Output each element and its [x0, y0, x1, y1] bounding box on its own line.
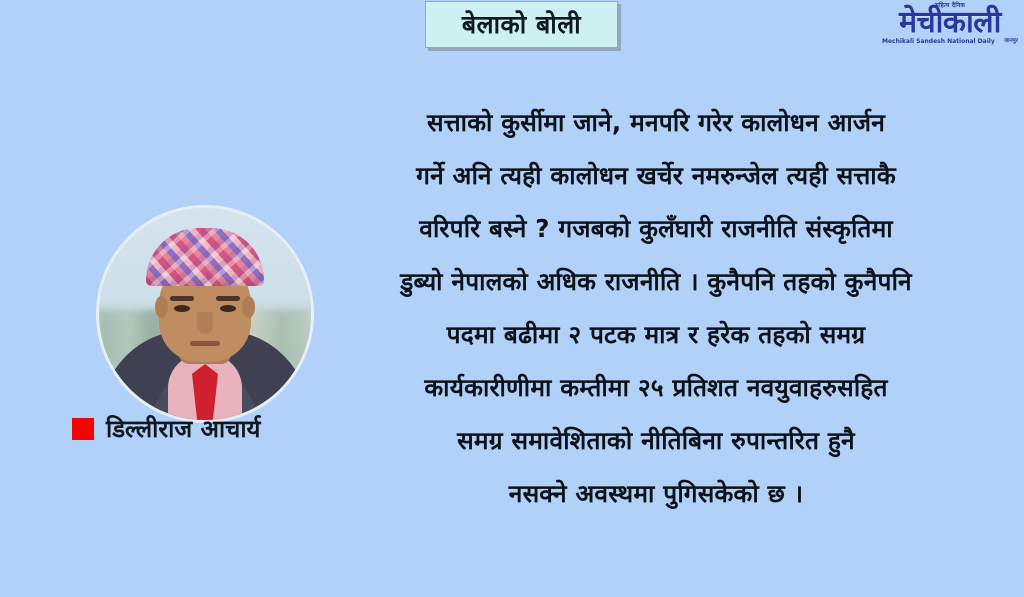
quote-line: कार्यकारीणीमा कम्तीमा २५ प्रतिशत नवयुवाह… — [300, 361, 1012, 414]
eye-left — [174, 305, 190, 312]
masthead-tagline-text: जानपुर — [1004, 39, 1018, 45]
avatar — [96, 205, 314, 423]
avatar-wrapper — [96, 205, 314, 423]
header-bar: बेलाको बोली सहित्य दैनिक मेचीकाली Mechik… — [0, 0, 1024, 58]
quote-line: सत्ताको कुर्सीमा जाने, मनपरि गरेर कालोधन… — [300, 96, 1012, 149]
quote-line: वरिपरि बस्ने ? गजबको कुलँघारी राजनीति सं… — [300, 202, 1012, 255]
quote-line: गर्ने अनि त्यही कालोधन खर्चेर नमरुन्जेल … — [300, 149, 1012, 202]
eye-right — [220, 305, 236, 312]
ear-left — [155, 296, 168, 318]
column-title-plaque: बेलाको बोली — [425, 1, 618, 48]
masthead-subtitle-text: Mechikali Sandesh National Daily — [882, 39, 995, 45]
ear-right — [242, 296, 255, 318]
author-block: डिल्लीराज आचार्य — [58, 205, 338, 423]
eyebrow-left — [170, 296, 194, 301]
newspaper-masthead: सहित्य दैनिक मेचीकाली Mechikali Sandesh … — [880, 2, 1020, 56]
quote-body: सत्ताको कुर्सीमा जाने, मनपरि गरेर कालोधन… — [300, 96, 1012, 520]
masthead-name-text: मेचीकाली — [899, 8, 1001, 38]
quote-line: डुब्यो नेपालको अधिक राजनीति । कुनैपनि तह… — [300, 255, 1012, 308]
nose-shape — [197, 312, 213, 334]
eyebrow-right — [216, 296, 240, 301]
column-title-text: बेलाको बोली — [462, 12, 581, 37]
quote-line: समग्र समावेशिताको नीतिबिना रुपान्तरित हु… — [300, 414, 1012, 467]
quote-line: पदमा बढीमा २ पटक मात्र र हरेक तहको समग्र — [300, 308, 1012, 361]
mouth-shape — [190, 341, 220, 346]
red-square-bullet-icon — [72, 418, 94, 440]
avatar-photo — [99, 208, 311, 420]
quote-line: नसक्ने अवस्थमा पुगिसकेको छ । — [300, 467, 1012, 520]
author-name-row: डिल्लीराज आचार्य — [72, 417, 260, 441]
dhaka-topi-icon — [146, 228, 264, 286]
author-name-text: डिल्लीराज आचार्य — [106, 417, 260, 441]
masthead-footer-row: Mechikali Sandesh National Daily जानपुर — [882, 39, 1018, 45]
